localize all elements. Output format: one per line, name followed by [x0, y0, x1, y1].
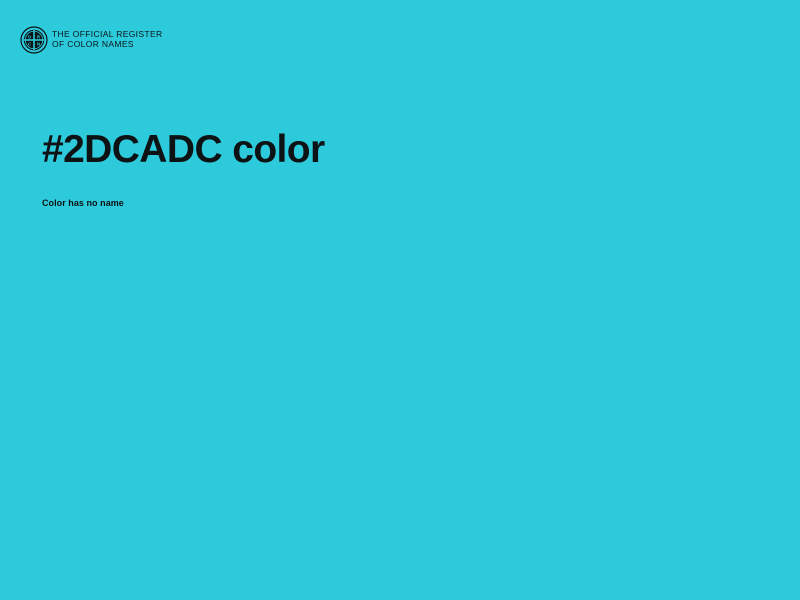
svg-text:O: O	[28, 34, 32, 39]
color-page: O R C N THE OFFICIAL REGISTER OF COLOR N…	[0, 0, 800, 600]
svg-text:N: N	[37, 42, 40, 47]
brand-lockup[interactable]: O R C N THE OFFICIAL REGISTER OF COLOR N…	[20, 26, 162, 54]
brand-line-2: OF COLOR NAMES	[52, 40, 162, 50]
brand-wordmark: THE OFFICIAL REGISTER OF COLOR NAMES	[52, 30, 162, 49]
page-title: #2DCADC color	[42, 128, 742, 173]
color-name-status: Color has no name	[42, 198, 124, 208]
official-register-seal-icon: O R C N	[20, 26, 48, 54]
color-info: #2DCADC color Color has no name	[42, 128, 742, 173]
